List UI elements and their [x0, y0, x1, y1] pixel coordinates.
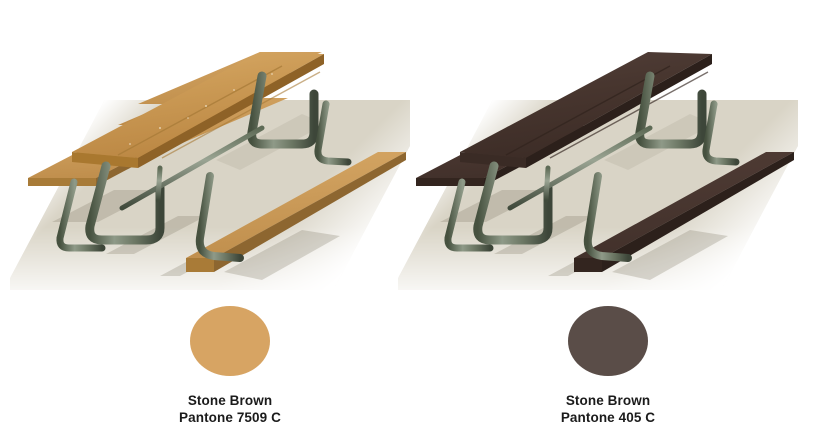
swatch-caption: Stone Brown Pantone 7509 C — [100, 392, 360, 426]
table-top — [460, 52, 712, 168]
picnic-table-illustration — [10, 40, 410, 290]
swatch-color-name: Stone Brown — [188, 393, 272, 408]
bench-leg-near-back — [318, 104, 348, 162]
swatch-color-circle[interactable] — [568, 306, 648, 376]
swatch-pantone-code: Pantone 7509 C — [100, 409, 360, 426]
swatch-caption: Stone Brown Pantone 405 C — [478, 392, 738, 426]
product-image-stone-brown-7509[interactable] — [10, 40, 410, 290]
color-swatch-stone-brown-405[interactable]: Stone Brown Pantone 405 C — [478, 306, 738, 426]
swatch-color-circle[interactable] — [190, 306, 270, 376]
product-image-stone-brown-405[interactable] — [398, 40, 798, 290]
picnic-table-illustration — [398, 40, 798, 290]
table-top — [70, 52, 328, 168]
swatch-pantone-code: Pantone 405 C — [478, 409, 738, 426]
color-options-page: Stone Brown Pantone 7509 C Stone Brown P… — [0, 0, 817, 443]
bench-leg-near-back — [706, 104, 736, 162]
product-scene — [10, 40, 410, 290]
swatch-color-name: Stone Brown — [566, 393, 650, 408]
product-scene — [398, 40, 798, 290]
color-swatch-stone-brown-7509[interactable]: Stone Brown Pantone 7509 C — [100, 306, 360, 426]
